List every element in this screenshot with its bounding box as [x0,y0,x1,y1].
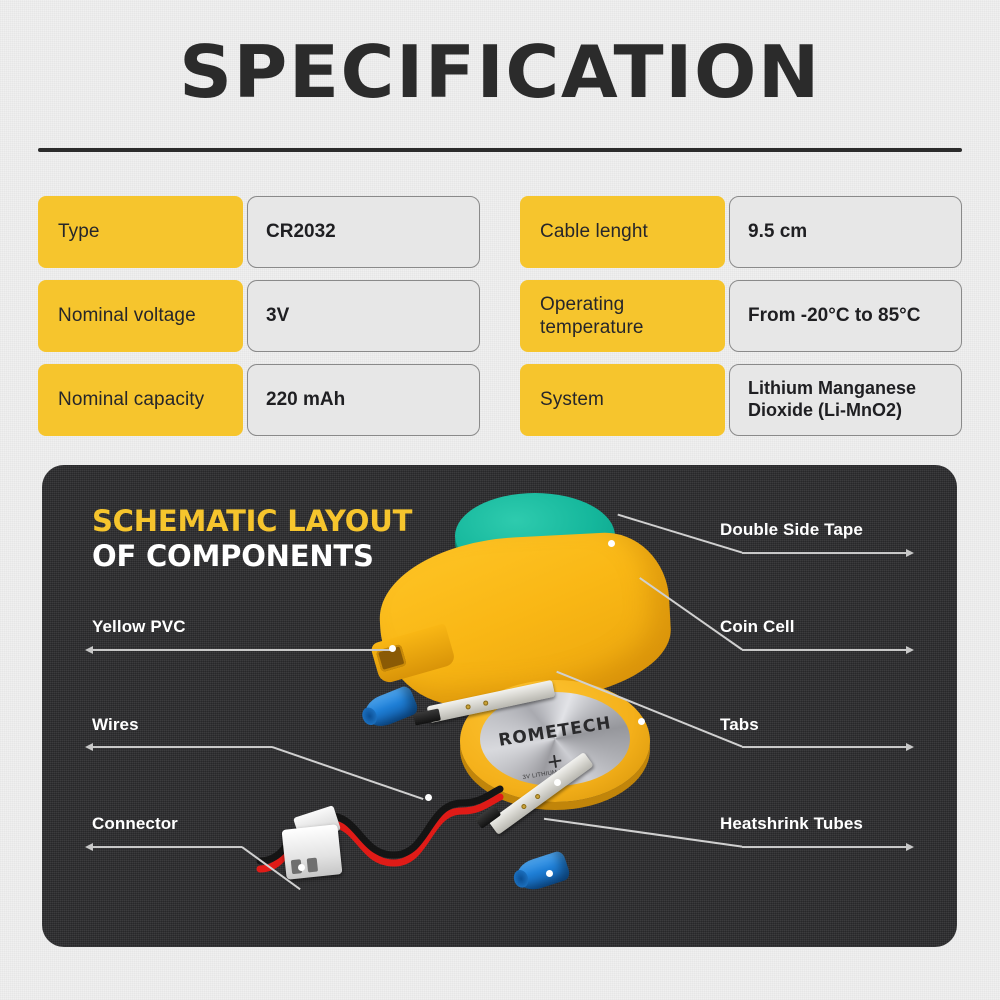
leader-line-coin-cell [742,649,907,651]
leader-endpoint-double-side-tape [608,540,615,547]
leader-line-wires [92,746,272,748]
leader-line-heatshrink-tubes [742,846,907,848]
callout-label-tabs: Tabs [720,715,759,735]
spec-key-nominal-capacity: Nominal capacity [38,364,243,436]
connector-part [282,824,343,880]
callout-label-double-side-tape: Double Side Tape [720,520,863,540]
leader-endpoint-heatshrink-tubes [546,870,553,877]
spec-value-nominal-voltage: 3V [247,280,480,352]
callout-text: Coin Cell [720,617,795,636]
callout-text: Tabs [720,715,759,734]
callout-text: Wires [92,715,139,734]
tab-tip-upper [413,708,441,725]
schematic-panel: SCHEMATIC LAYOUT OF COMPONENTS ROMETECH … [42,465,957,947]
spec-column-right: Cable lenght 9.5 cm Operating temperatur… [520,196,962,436]
spec-column-left: Type CR2032 Nominal voltage 3V Nominal c… [38,196,480,436]
leader-endpoint-tabs [554,779,561,786]
table-row: Cable lenght 9.5 cm [520,196,962,268]
heatshrink-tube-lower [513,850,572,895]
leader-endpoint-yellow-pvc [389,645,396,652]
leader-endpoint-connector [298,864,305,871]
header: SPECIFICATION [0,36,1000,108]
specification-table: Type CR2032 Nominal voltage 3V Nominal c… [38,196,962,436]
heatshrink-tube-upper [360,684,419,731]
callout-label-heatshrink-tubes: Heatshrink Tubes [720,814,863,834]
spec-key-cable-length: Cable lenght [520,196,725,268]
title-divider [38,148,962,152]
callout-label-wires: Wires [92,715,139,735]
callout-text: Yellow PVC [92,617,186,636]
table-row: Nominal capacity 220 mAh [38,364,480,436]
spec-value-type: CR2032 [247,196,480,268]
leader-endpoint-wires [425,794,432,801]
spec-key-operating-temperature: Operating temperature [520,280,725,352]
spec-key-nominal-voltage: Nominal voltage [38,280,243,352]
callout-text: Double Side Tape [720,520,863,539]
table-row: System Lithium Manganese Dioxide (Li-MnO… [520,364,962,436]
spec-value-system: Lithium Manganese Dioxide (Li-MnO2) [729,364,962,436]
table-row: Nominal voltage 3V [38,280,480,352]
leader-endpoint-coin-cell [638,718,645,725]
spec-value-operating-temperature: From -20°C to 85°C [729,280,962,352]
spec-key-system: System [520,364,725,436]
spec-value-nominal-capacity: 220 mAh [247,364,480,436]
callout-label-connector: Connector [92,814,178,834]
table-row: Type CR2032 [38,196,480,268]
callout-label-coin-cell: Coin Cell [720,617,795,637]
leader-line-yellow-pvc [92,649,392,651]
leader-line-connector [92,846,242,848]
page-title: SPECIFICATION [0,36,1000,108]
leader-line-tabs [742,746,907,748]
table-row: Operating temperature From -20°C to 85°C [520,280,962,352]
callout-text: Heatshrink Tubes [720,814,863,833]
spec-value-cable-length: 9.5 cm [729,196,962,268]
spec-key-type: Type [38,196,243,268]
callout-text: Connector [92,814,178,833]
leader-line-double-side-tape [742,552,907,554]
callout-label-yellow-pvc: Yellow PVC [92,617,186,637]
